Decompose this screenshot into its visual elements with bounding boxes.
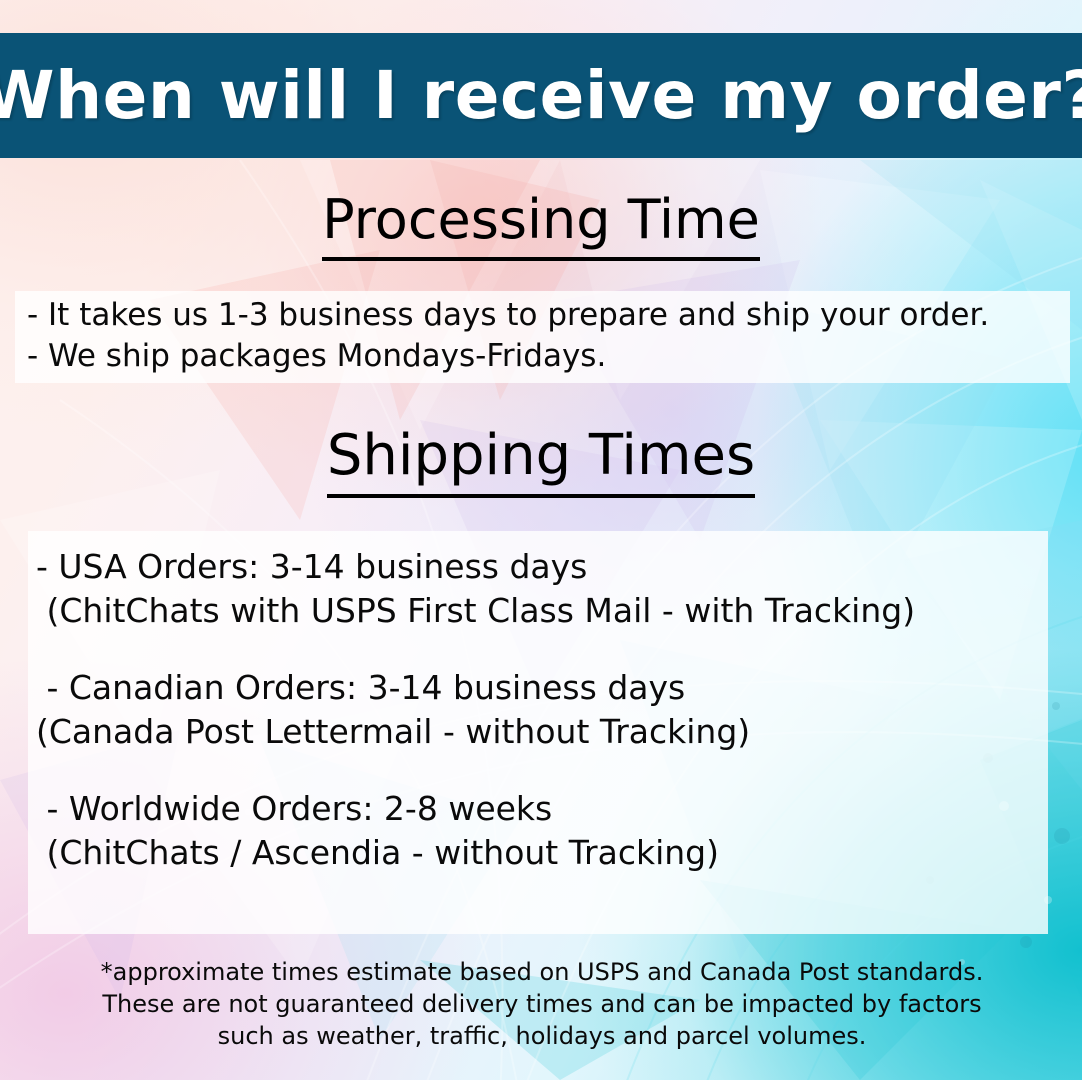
processing-time-heading: Processing Time [0,193,1082,247]
processing-time-line-2: - We ship packages Mondays-Fridays. [15,336,1070,377]
footnote-line-1: *approximate times estimate based on USP… [66,957,1018,989]
shipping-group-worldwide: - Worldwide Orders: 2-8 weeks (ChitChats… [28,787,1048,874]
shipping-times-heading-text: Shipping Times [327,423,755,498]
processing-time-panel: - It takes us 1-3 business days to prepa… [15,291,1070,383]
shipping-times-heading: Shipping Times [0,428,1082,484]
canadian-carrier-line: (Canada Post Lettermail - without Tracki… [28,710,1048,754]
footnote-line-2: These are not guaranteed delivery times … [66,989,1018,1021]
footnote-line-3: such as weather, traffic, holidays and p… [66,1021,1018,1053]
worldwide-orders-line: - Worldwide Orders: 2-8 weeks [28,787,1048,831]
footnote-disclaimer: *approximate times estimate based on USP… [66,957,1018,1053]
shipping-times-panel: - USA Orders: 3-14 business days (ChitCh… [28,531,1048,934]
canadian-orders-line: - Canadian Orders: 3-14 business days [28,666,1048,710]
header-band: When will I receive my order? [0,33,1082,158]
shipping-group-canada: - Canadian Orders: 3-14 business days (C… [28,666,1048,753]
shipping-info-graphic: When will I receive my order? Processing… [0,0,1082,1080]
page-title: When will I receive my order? [0,63,1082,129]
content-area: Processing Time - It takes us 1-3 busine… [0,0,1082,1080]
usa-carrier-line: (ChitChats with USPS First Class Mail - … [28,589,1048,633]
worldwide-carrier-line: (ChitChats / Ascendia - without Tracking… [28,831,1048,875]
usa-orders-line: - USA Orders: 3-14 business days [28,545,1048,589]
processing-time-heading-text: Processing Time [322,188,760,261]
shipping-group-usa: - USA Orders: 3-14 business days (ChitCh… [28,545,1048,632]
processing-time-line-1: - It takes us 1-3 business days to prepa… [15,295,1070,336]
